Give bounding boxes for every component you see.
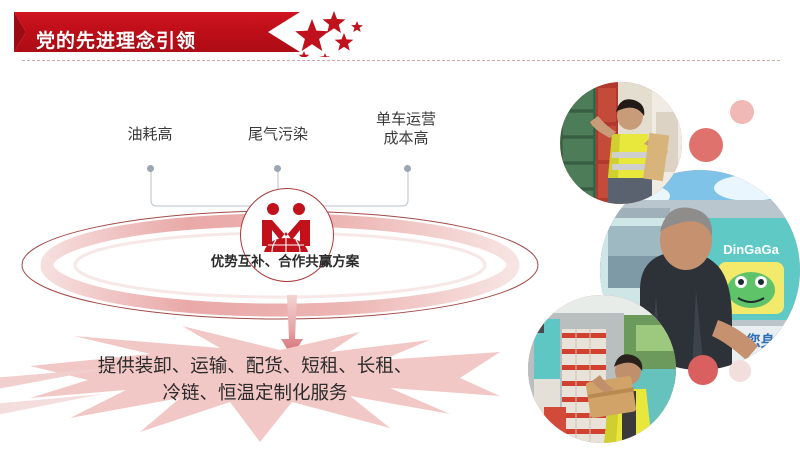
photo-worker-boxes-art <box>560 82 682 204</box>
problem-label-3: 单车运营 成本高 <box>358 110 454 148</box>
problem-node-3[interactable] <box>404 165 411 172</box>
banner-title: 党的先进理念引领 <box>36 26 286 53</box>
decor-dot-3 <box>688 355 718 385</box>
photo-worker-van-cargo[interactable] <box>528 295 676 443</box>
handshake-globe-icon <box>258 202 314 256</box>
header-ribbon: 党的先进理念引领 <box>0 12 360 56</box>
problem-label-2: 尾气污染 <box>228 125 328 144</box>
header-divider <box>22 60 780 61</box>
decor-dot-4 <box>729 360 751 382</box>
photo-worker-van-art <box>528 295 676 443</box>
decor-dot-2 <box>730 100 754 124</box>
outcome-line-2: 冷链、恒温定制化服务 <box>55 379 455 406</box>
problem-node-2[interactable] <box>274 165 281 172</box>
svg-text:DinGaGa: DinGaGa <box>723 242 779 257</box>
photo-worker-loading-boxes[interactable] <box>560 82 682 204</box>
outcome-line-1: 提供装卸、运输、配货、短租、长租、 <box>55 352 455 379</box>
outcome-text: 提供装卸、运输、配货、短租、长租、 冷链、恒温定制化服务 <box>55 352 455 406</box>
decor-swoosh-left <box>0 368 112 448</box>
star-cluster-icon <box>272 9 372 57</box>
problem-label-1: 油耗高 <box>100 125 200 144</box>
slide-canvas: 党的先进理念引领 油耗高 尾气污染 单车运营 成本高 <box>0 0 800 450</box>
center-solution-label: 优势互补、合作共赢方案 <box>155 250 415 270</box>
problem-node-1[interactable] <box>147 165 154 172</box>
decor-dot-1 <box>689 128 723 162</box>
